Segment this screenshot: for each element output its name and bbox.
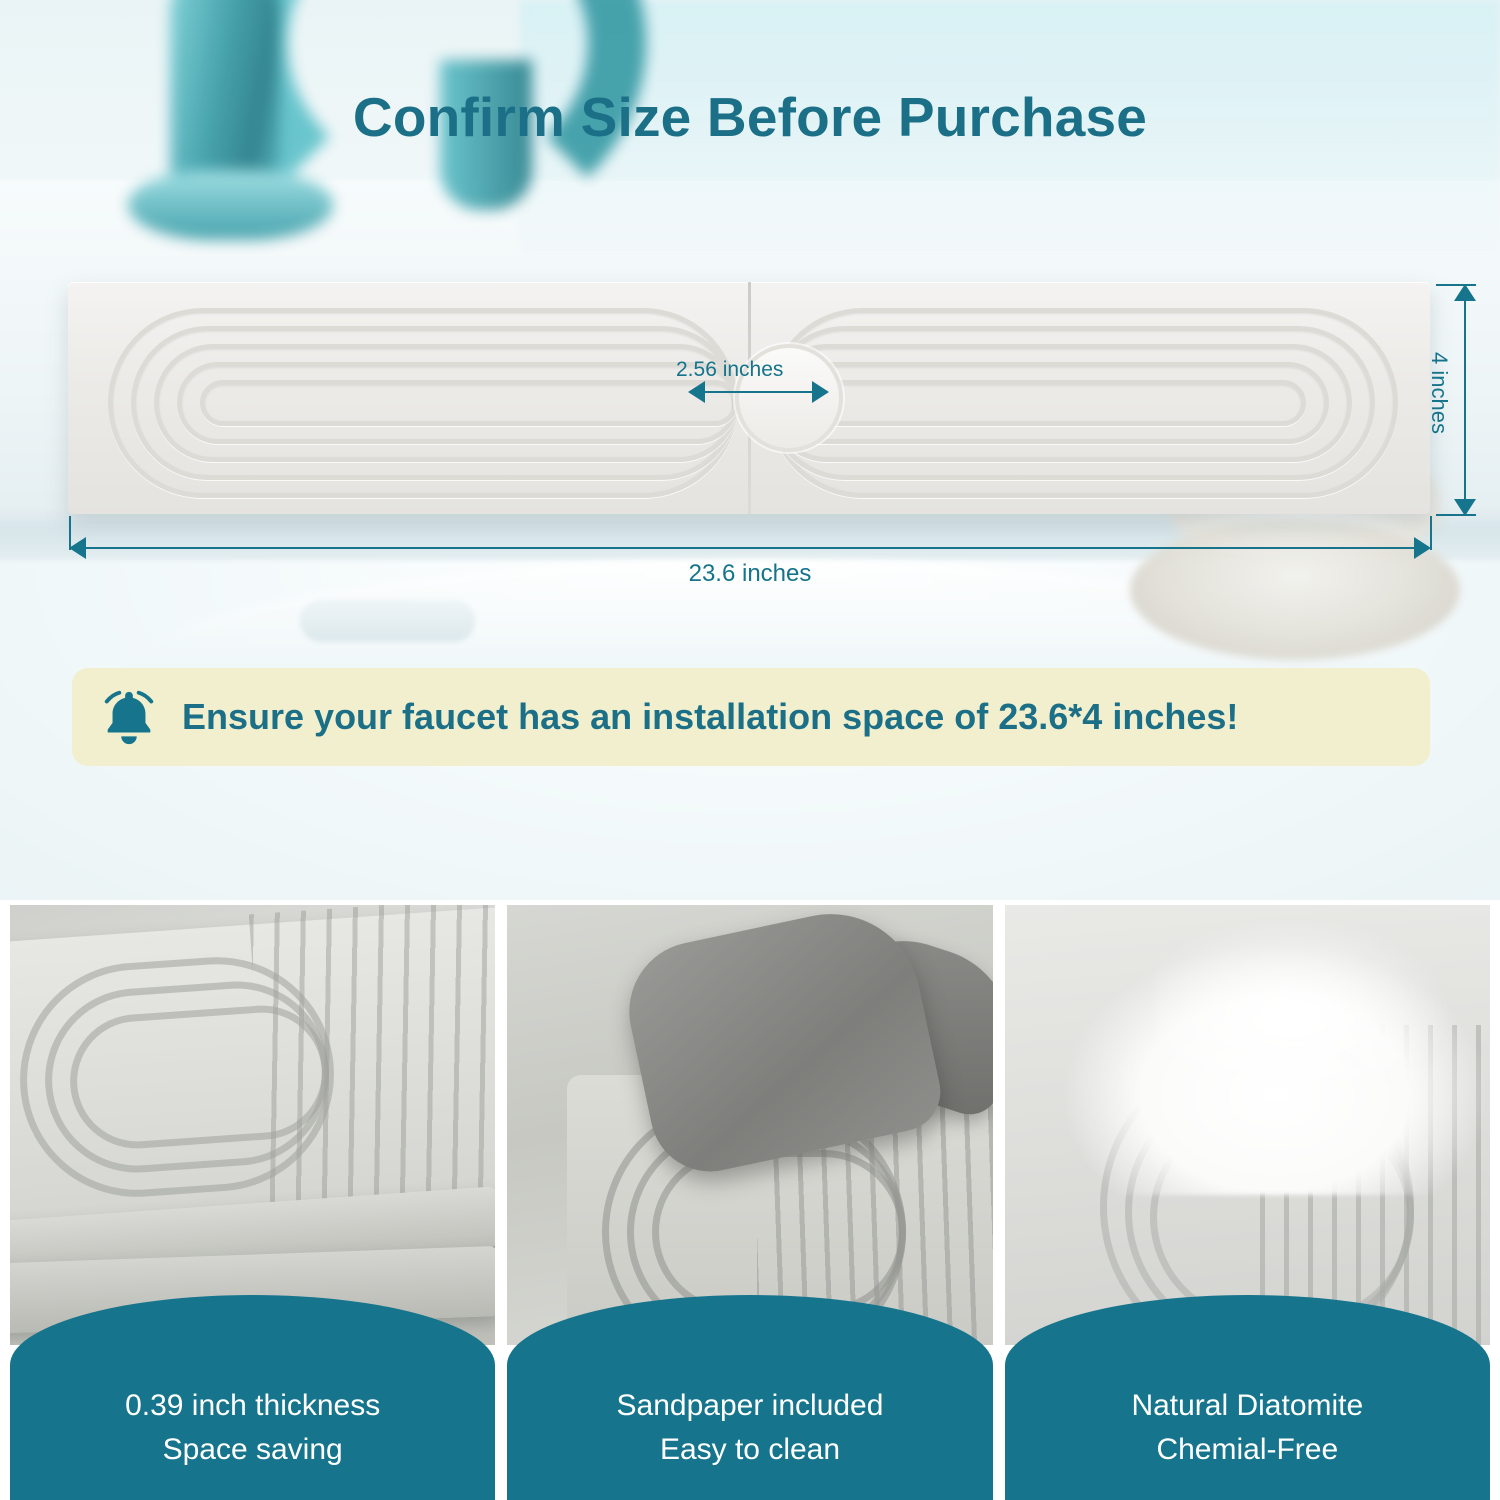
thickness-panel-caption: 0.39 inch thickness Space saving xyxy=(10,1295,495,1500)
sandpaper-panel-photo xyxy=(507,905,992,1345)
height-arrow-top-head xyxy=(1454,284,1476,301)
height-dimension-line xyxy=(1464,300,1466,500)
width-dimension-line xyxy=(86,547,1416,549)
thickness-panel: 0.39 inch thickness Space saving xyxy=(10,905,495,1500)
mat-groove-arc-3 xyxy=(652,1150,906,1314)
sandpaper-caption-line-1: Sandpaper included xyxy=(617,1384,884,1428)
width-extension-right xyxy=(1430,516,1432,550)
page-title: Confirm Size Before Purchase xyxy=(0,85,1500,149)
material-panel-caption: Natural Diatomite Chemial-Free xyxy=(1005,1295,1490,1500)
notch-dimension-label: 2.56 inches xyxy=(676,358,783,382)
background-soap-dish xyxy=(1130,520,1460,660)
material-panel: Natural Diatomite Chemial-Free xyxy=(1005,905,1490,1500)
thickness-panel-photo xyxy=(10,905,495,1345)
feature-panels: 0.39 inch thickness Space saving Sandpap… xyxy=(0,905,1500,1500)
width-dimension-label: 23.6 inches xyxy=(0,560,1500,588)
powder-highlight xyxy=(1155,915,1455,1095)
mat-groove-arc-3 xyxy=(66,1001,334,1153)
installation-notice-text: Ensure your faucet has an installation s… xyxy=(182,696,1238,738)
bell-icon xyxy=(86,686,172,748)
background-sink-handle xyxy=(300,600,475,642)
notch-arrow-right-head xyxy=(812,381,829,403)
notch-dimension-line xyxy=(704,391,816,393)
material-caption-line-1: Natural Diatomite xyxy=(1131,1384,1363,1428)
groove-right-5 xyxy=(768,380,1306,426)
installation-notice-banner: Ensure your faucet has an installation s… xyxy=(72,668,1430,766)
sandpaper-caption-line-2: Easy to clean xyxy=(660,1428,840,1472)
thickness-caption-line-2: Space saving xyxy=(163,1428,343,1472)
product-mat xyxy=(68,282,1430,514)
hero-section: Confirm Size Before Purchase 23.6 inches xyxy=(0,0,1500,900)
groove-left-5 xyxy=(200,380,738,426)
height-extension-bottom xyxy=(1436,514,1476,516)
thickness-caption-line-1: 0.39 inch thickness xyxy=(125,1384,380,1428)
width-extension-left xyxy=(69,516,71,550)
notch-arrow-left-head xyxy=(688,381,705,403)
sandpaper-panel-caption: Sandpaper included Easy to clean xyxy=(507,1295,992,1500)
material-caption-line-2: Chemial-Free xyxy=(1156,1428,1338,1472)
hand-bending-mat-image xyxy=(507,905,992,1345)
faucet-base xyxy=(128,170,333,240)
height-dimension-label: 4 inches xyxy=(1426,352,1452,434)
height-extension-top xyxy=(1436,284,1476,286)
width-arrow-left-head xyxy=(69,537,86,559)
diatomite-powder-image xyxy=(1005,905,1490,1345)
mat-body xyxy=(68,282,1430,514)
width-arrow-right-head xyxy=(1414,537,1431,559)
sandpaper-panel: Sandpaper included Easy to clean xyxy=(507,905,992,1500)
material-panel-photo xyxy=(1005,905,1490,1345)
stacked-mats-image xyxy=(10,905,495,1345)
